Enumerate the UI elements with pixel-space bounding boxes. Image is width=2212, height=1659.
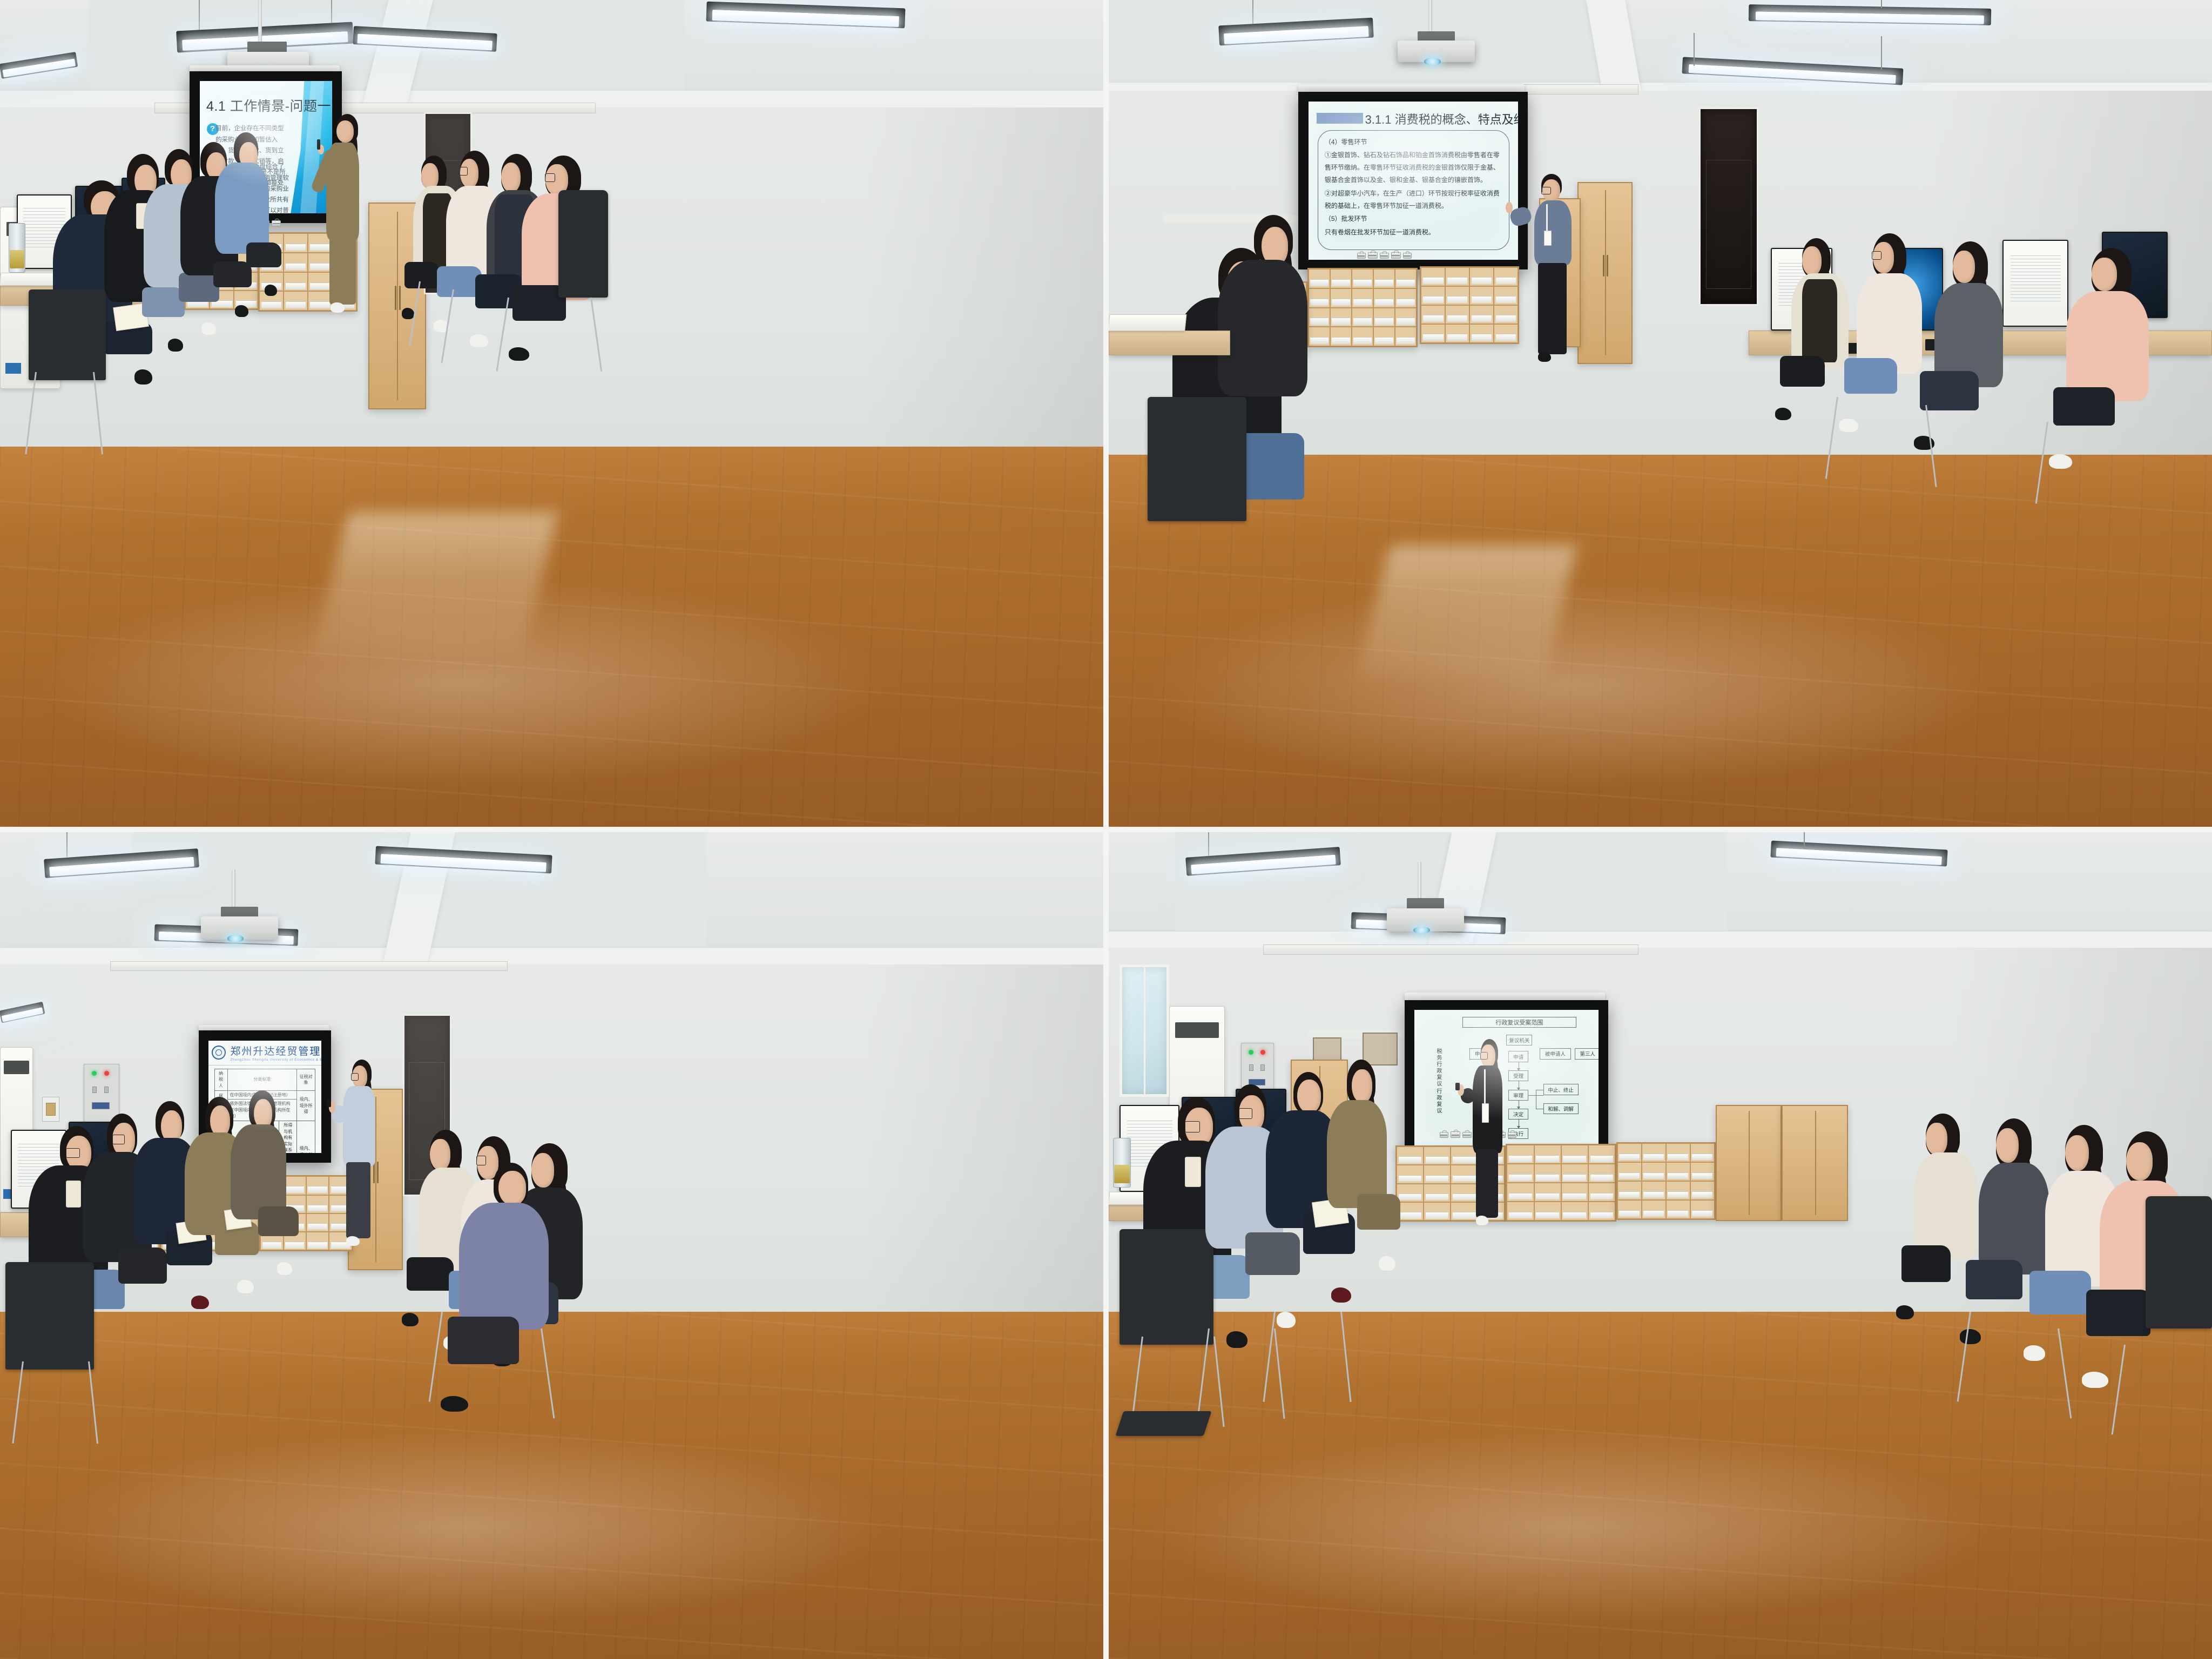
window bbox=[1120, 965, 1169, 1097]
slide-line: （4）零售环节 bbox=[1325, 136, 1503, 149]
university-logo-icon bbox=[212, 1046, 226, 1060]
slide-body-box: （4）零售环节 ①金银首饰、钻石及钻石饰品和铂金首饰消费税由零售者在零售环节缴纳… bbox=[1318, 130, 1509, 250]
pendant-wire bbox=[1252, 0, 1253, 25]
chair[interactable] bbox=[1116, 1411, 1212, 1436]
projector-pole bbox=[1418, 862, 1421, 903]
flowchart-arrow bbox=[1519, 1062, 1519, 1070]
flowchart-side-label: 税务行政复议 行政复议 bbox=[1434, 1048, 1441, 1114]
audience-member bbox=[1925, 241, 2018, 473]
table-row: 纳税人 分类标准 征税对象 bbox=[214, 1069, 315, 1090]
water-bottle bbox=[1113, 1138, 1131, 1188]
pendant-wire bbox=[66, 832, 68, 857]
slide-title: 3.1.1 消费税的概念、特点及纳税环节 bbox=[1365, 110, 1512, 127]
projector-pole bbox=[1428, 0, 1432, 35]
col-header-taxpayer: 纳税人 bbox=[214, 1069, 227, 1090]
audience-member bbox=[2058, 248, 2163, 488]
university-name-en: Zhengzhou Shengda University of Economic… bbox=[230, 1058, 321, 1062]
presenter bbox=[1522, 174, 1582, 364]
entry-door[interactable] bbox=[1699, 107, 1758, 306]
presenter bbox=[1462, 1039, 1513, 1229]
projector-lens-icon bbox=[1413, 927, 1430, 934]
flowchart-connector bbox=[1536, 1090, 1536, 1109]
slide-line: 只有卷烟在批发环节加征一道消费税。 bbox=[1325, 226, 1503, 239]
panel-top-right: 3.1.1 消费税的概念、特点及纳税环节 （4）零售环节 ①金银首饰、钻石及钻石… bbox=[1109, 0, 2212, 827]
slide-line: （5）批发环节 bbox=[1325, 213, 1503, 225]
ceiling-duct bbox=[1263, 945, 1638, 954]
audience-member bbox=[207, 132, 285, 322]
id-badge bbox=[1482, 1103, 1489, 1122]
computer-desk bbox=[1109, 331, 1230, 355]
chair[interactable] bbox=[1148, 397, 1247, 521]
university-name-cn: 郑州升达经贸管理学院 bbox=[230, 1043, 321, 1058]
chair[interactable] bbox=[29, 289, 106, 380]
flowchart-connector bbox=[1528, 1095, 1543, 1096]
projector-lens-icon bbox=[1424, 58, 1441, 65]
pendant-wire bbox=[199, 0, 200, 33]
ceiling-duct bbox=[110, 961, 507, 971]
panel-bottom-left: 郑州升达经贸管理学院 Zhengzhou Shengda University … bbox=[0, 832, 1103, 1659]
flowchart-connector bbox=[1536, 1090, 1543, 1090]
pendant-wire bbox=[1694, 33, 1695, 66]
audience-member bbox=[223, 1090, 300, 1305]
panel-bottom-right: 行政复议受案范围 税务行政复议 行政复议 复议机关 申请人 被申请人 第三人 申… bbox=[1109, 832, 2212, 1659]
water-bottle bbox=[9, 223, 25, 273]
cubby-shelf-unit[interactable] bbox=[1506, 1144, 1616, 1222]
floor bbox=[0, 447, 1103, 827]
pendant-wire bbox=[1804, 832, 1805, 849]
slide-line: ②对超豪华小汽车，在生产（进口）环节按现行税率征收消费税的基础上，在零售环节加征… bbox=[1325, 187, 1503, 212]
cubby-shelf-unit[interactable] bbox=[1616, 1142, 1716, 1220]
wooden-cabinet[interactable] bbox=[1716, 1105, 1782, 1220]
flowchart-connector bbox=[1536, 1109, 1543, 1109]
presenter-clicker[interactable] bbox=[1455, 1083, 1460, 1090]
presenter bbox=[331, 1060, 386, 1250]
projection-screen: 3.1.1 消费税的概念、特点及纳税环节 （4）零售环节 ①金银首饰、钻石及钻石… bbox=[1298, 92, 1528, 269]
cubby-shelf-unit[interactable] bbox=[1420, 266, 1519, 344]
flowchart-arrow bbox=[1519, 1101, 1519, 1109]
flowchart-title: 行政复议受案范围 bbox=[1462, 1017, 1577, 1028]
chair[interactable] bbox=[2146, 1196, 2212, 1328]
pendant-wire bbox=[1208, 832, 1209, 857]
projector-pole bbox=[258, 0, 262, 45]
presenter-clicker[interactable] bbox=[317, 139, 320, 150]
pendant-wire bbox=[1881, 0, 1882, 8]
pendant-wire bbox=[1881, 36, 1882, 69]
slide-title: 4.1 工作情景-问题一：采购业务类型 bbox=[206, 96, 282, 115]
flowchart-branch-settle: 和解、调解 bbox=[1543, 1103, 1579, 1114]
chair[interactable] bbox=[558, 190, 608, 298]
presenter bbox=[313, 114, 370, 316]
col-header-object: 征税对象 bbox=[297, 1069, 315, 1090]
panel-top-left: 4.1 工作情景-问题一：采购业务类型 ? 目前，企业存在不同类型的采购业务，如… bbox=[0, 0, 1103, 827]
equipment-case-row bbox=[1357, 252, 1412, 259]
slide-header: 郑州升达经贸管理学院 Zhengzhou Shengda University … bbox=[208, 1041, 321, 1065]
flowchart-arrow bbox=[1519, 1120, 1519, 1128]
flowchart-branch-suspend: 中止、终止 bbox=[1543, 1084, 1579, 1095]
presenter-clicker[interactable] bbox=[327, 1100, 331, 1107]
slide-content: 3.1.1 消费税的概念、特点及纳税环节 （4）零售环节 ①金银首饰、钻石及钻石… bbox=[1309, 102, 1518, 259]
wooden-cabinet[interactable] bbox=[1577, 182, 1633, 364]
projector-pole bbox=[232, 869, 235, 911]
flowchart-node-third-party: 第三人 bbox=[1575, 1048, 1599, 1059]
col-header-criteria: 分类标准 bbox=[227, 1069, 297, 1090]
id-badge bbox=[1544, 231, 1552, 246]
wall-shading bbox=[861, 107, 1103, 504]
slide-line: ①金银首饰、钻石及钻石饰品和铂金首饰消费税由零售者在零售环节缴纳。在零售环节征收… bbox=[1325, 149, 1503, 186]
flowchart-arrow bbox=[1519, 1081, 1519, 1089]
slide-accent-bar bbox=[1317, 113, 1363, 124]
flowchart-node-respondent: 被申请人 bbox=[1540, 1048, 1571, 1059]
projector-lens-icon bbox=[227, 935, 244, 942]
audience-member bbox=[1318, 1060, 1402, 1299]
classroom-collage: 4.1 工作情景-问题一：采购业务类型 ? 目前，企业存在不同类型的采购业务，如… bbox=[0, 0, 2212, 1659]
wooden-cabinet[interactable] bbox=[1782, 1105, 1848, 1220]
paper-stack bbox=[1109, 314, 1187, 331]
wall-outlet[interactable] bbox=[42, 1097, 60, 1122]
audience-member bbox=[1848, 233, 1936, 456]
pendant-wire bbox=[331, 0, 332, 25]
ceiling-soffit bbox=[1109, 0, 1616, 91]
wall-shading bbox=[861, 965, 1103, 1361]
